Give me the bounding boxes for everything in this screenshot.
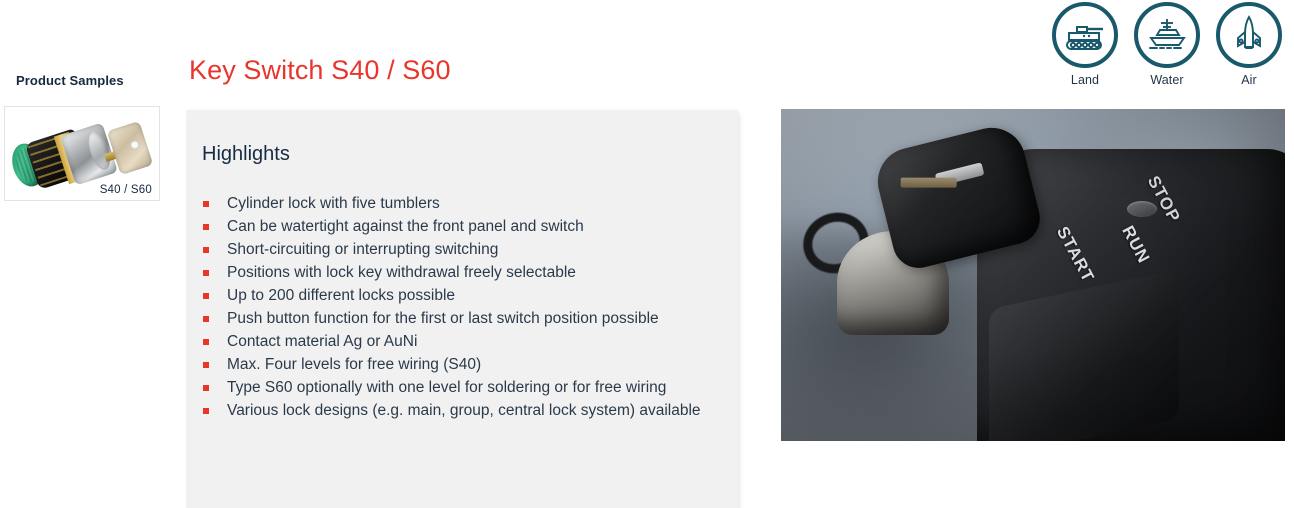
list-item: Cylinder lock with five tumblers xyxy=(202,192,714,215)
product-samples-heading: Product Samples xyxy=(16,73,124,88)
ship-icon xyxy=(1145,17,1189,53)
list-item: Various lock designs (e.g. main, group, … xyxy=(202,399,714,422)
badge-water[interactable]: Water xyxy=(1132,2,1202,87)
list-item: Push button function for the first or la… xyxy=(202,307,714,330)
badge-water-circle xyxy=(1134,2,1200,68)
list-item: Type S60 optionally with one level for s… xyxy=(202,376,714,399)
list-item: Up to 200 different locks possible xyxy=(202,284,714,307)
product-sample-caption: S40 / S60 xyxy=(100,184,152,196)
list-item: Positions with lock key withdrawal freel… xyxy=(202,261,714,284)
jet-icon xyxy=(1229,15,1269,55)
list-item: Max. Four levels for free wiring (S40) xyxy=(202,353,714,376)
badge-air-label: Air xyxy=(1241,73,1257,87)
list-item: Can be watertight against the front pane… xyxy=(202,215,714,238)
badge-land-label: Land xyxy=(1071,73,1099,87)
badge-air-circle xyxy=(1216,2,1282,68)
list-item: Contact material Ag or AuNi xyxy=(202,330,714,353)
highlights-panel: Highlights Cylinder lock with five tumbl… xyxy=(186,110,738,508)
product-page: Land Water xyxy=(0,0,1294,508)
badge-air[interactable]: Air xyxy=(1214,2,1284,87)
badge-land-circle xyxy=(1052,2,1118,68)
list-item: Short-circuiting or interrupting switchi… xyxy=(202,238,714,261)
product-sample-card[interactable]: S40 / S60 xyxy=(4,106,160,201)
highlights-list: Cylinder lock with five tumblers Can be … xyxy=(202,192,714,422)
badge-land[interactable]: Land xyxy=(1050,2,1120,87)
tank-icon xyxy=(1063,18,1107,52)
capability-badges: Land Water xyxy=(1050,2,1284,87)
badge-water-label: Water xyxy=(1150,73,1183,87)
page-title: Key Switch S40 / S60 xyxy=(189,55,451,86)
highlights-title: Highlights xyxy=(202,143,290,166)
product-hero-photo: STOP RUN START xyxy=(781,109,1285,441)
